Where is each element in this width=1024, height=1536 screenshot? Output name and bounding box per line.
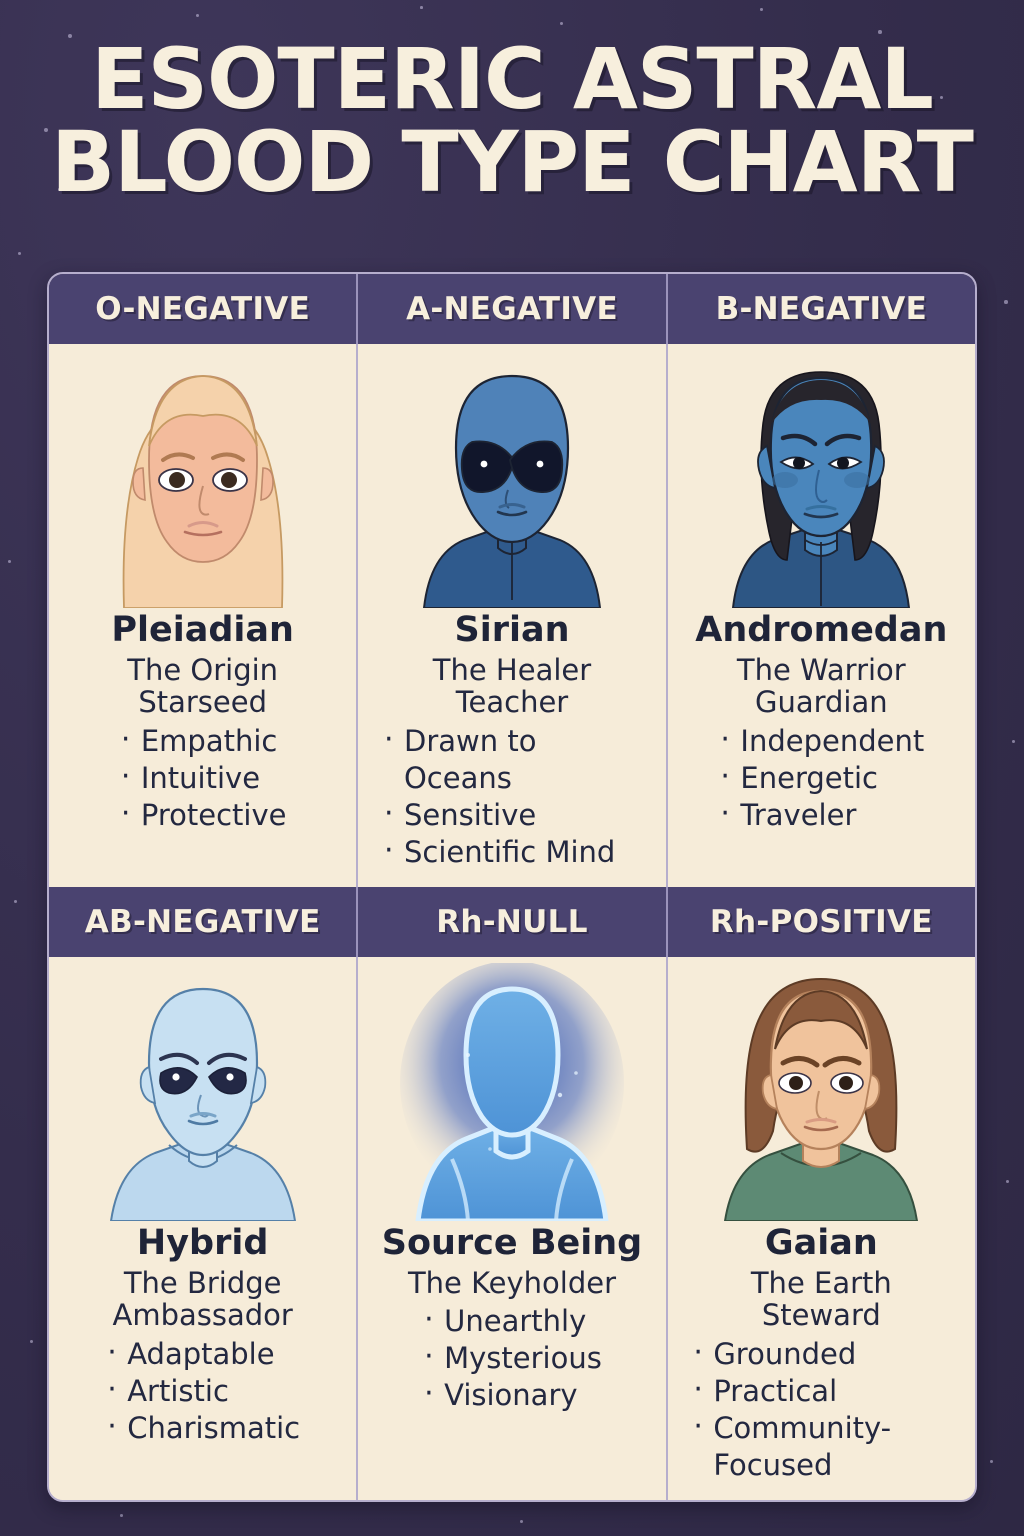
cell-a-negative: Sirian The Healer Teacher Drawn to Ocean… (358, 344, 667, 887)
species-name: Pleiadian (111, 612, 294, 649)
species-name: Gaian (765, 1225, 878, 1262)
trait-item: Artistic (105, 1373, 300, 1410)
title-line-1: ESOTERIC ASTRAL (0, 38, 1024, 121)
background-star (30, 1340, 33, 1343)
background-star (196, 14, 199, 17)
background-star (520, 1520, 523, 1523)
species-role: The Keyholder (408, 1267, 616, 1299)
background-star (760, 8, 763, 11)
background-star (560, 22, 563, 25)
trait-item: Scientific Mind (382, 834, 642, 871)
header-o-negative: O-NEGATIVE (49, 274, 358, 344)
trait-item: Protective (119, 797, 287, 834)
species-role: The Origin Starseed (78, 654, 328, 719)
trait-list: Adaptable Artistic Charismatic (105, 1336, 300, 1447)
species-name: Andromedan (695, 612, 947, 649)
header-row-2: AB-NEGATIVE Rh-NULL Rh-POSITIVE (49, 887, 975, 957)
content-row-2: Hybrid The Bridge Ambassador Adaptable A… (49, 957, 975, 1500)
cell-o-negative: Pleiadian The Origin Starseed Empathic I… (49, 344, 358, 887)
background-star (990, 1460, 993, 1463)
hybrid-portrait (71, 963, 335, 1221)
trait-list: Independent Energetic Traveler (718, 723, 924, 834)
background-star (420, 6, 423, 9)
source-being-portrait (380, 963, 644, 1221)
trait-item: Drawn to Oceans (382, 723, 642, 797)
cell-rh-null: Source Being The Keyholder Unearthly Mys… (358, 957, 667, 1500)
background-star (1012, 740, 1015, 743)
trait-item: Community-Focused (691, 1410, 951, 1484)
species-role: The Warrior Guardian (696, 654, 946, 719)
species-name: Hybrid (137, 1225, 268, 1262)
trait-list: Unearthly Mysterious Visionary (422, 1303, 602, 1414)
trait-list: Grounded Practical Community-Focused (691, 1336, 951, 1484)
header-rh-positive: Rh-POSITIVE (668, 887, 975, 957)
background-star (18, 252, 21, 255)
species-role: The Healer Teacher (387, 654, 637, 719)
trait-item: Energetic (718, 760, 924, 797)
trait-item: Traveler (718, 797, 924, 834)
trait-list: Empathic Intuitive Protective (119, 723, 287, 834)
trait-item: Visionary (422, 1377, 602, 1414)
header-b-negative: B-NEGATIVE (668, 274, 975, 344)
header-ab-negative: AB-NEGATIVE (49, 887, 358, 957)
poster-title: ESOTERIC ASTRAL BLOOD TYPE CHART (0, 38, 1024, 204)
header-rh-null: Rh-NULL (358, 887, 667, 957)
trait-item: Sensitive (382, 797, 642, 834)
cell-ab-negative: Hybrid The Bridge Ambassador Adaptable A… (49, 957, 358, 1500)
trait-item: Practical (691, 1373, 951, 1410)
sirian-portrait (380, 350, 644, 608)
background-star (1004, 300, 1008, 304)
trait-item: Mysterious (422, 1340, 602, 1377)
trait-item: Adaptable (105, 1336, 300, 1373)
trait-item: Grounded (691, 1336, 951, 1373)
trait-list: Drawn to Oceans Sensitive Scientific Min… (382, 723, 642, 871)
pleiadian-portrait (71, 350, 335, 608)
cell-b-negative: Andromedan The Warrior Guardian Independ… (668, 344, 975, 887)
blood-type-chart-grid: O-NEGATIVE A-NEGATIVE B-NEGATIVE (47, 272, 977, 1502)
species-name: Source Being (382, 1225, 642, 1262)
gaian-portrait (689, 963, 953, 1221)
trait-item: Independent (718, 723, 924, 760)
andromedan-portrait (689, 350, 953, 608)
species-role: The Bridge Ambassador (78, 1267, 328, 1332)
trait-item: Empathic (119, 723, 287, 760)
cell-rh-positive: Gaian The Earth Steward Grounded Practic… (668, 957, 975, 1500)
background-star (8, 560, 11, 563)
header-row-1: O-NEGATIVE A-NEGATIVE B-NEGATIVE (49, 274, 975, 344)
background-star (1006, 1180, 1009, 1183)
species-role: The Earth Steward (696, 1267, 946, 1332)
title-line-2: BLOOD TYPE CHART (0, 121, 1024, 204)
background-star (120, 1514, 123, 1517)
header-a-negative: A-NEGATIVE (358, 274, 667, 344)
poster-background: ESOTERIC ASTRAL BLOOD TYPE CHART O-NEGAT… (0, 0, 1024, 1536)
content-row-1: Pleiadian The Origin Starseed Empathic I… (49, 344, 975, 887)
trait-item: Unearthly (422, 1303, 602, 1340)
trait-item: Charismatic (105, 1410, 300, 1447)
trait-item: Intuitive (119, 760, 287, 797)
species-name: Sirian (454, 612, 569, 649)
background-star (14, 900, 17, 903)
